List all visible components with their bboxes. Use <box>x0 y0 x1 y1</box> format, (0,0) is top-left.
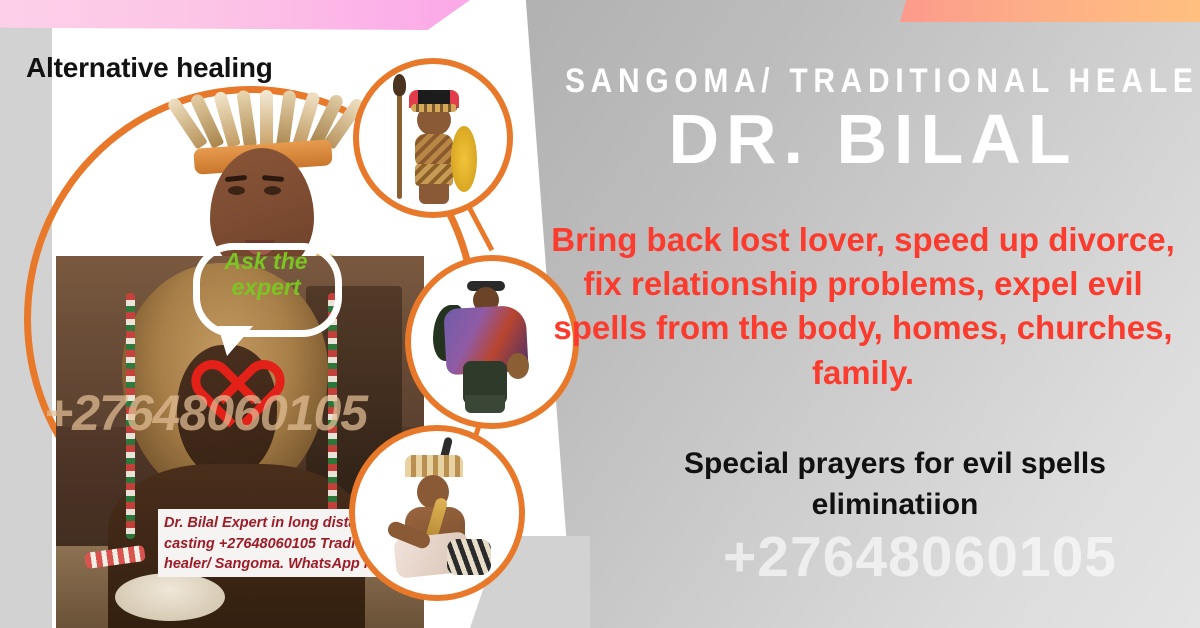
photo-phone-watermark: +27648060105 <box>44 384 444 442</box>
hero-eye-left <box>228 186 245 195</box>
warrior-legs <box>419 184 449 204</box>
warrior-skirt <box>415 164 453 186</box>
speech-bubble-label: Ask the expert <box>206 248 326 301</box>
speech-bubble-tail <box>218 326 253 356</box>
panel-phone-watermark: +27648060105 <box>640 524 1200 590</box>
badge-crouching-warrior[interactable] <box>349 425 525 601</box>
crouching-warrior-skirt <box>447 539 491 575</box>
healer-name-title: DR. BILAL <box>563 104 1183 174</box>
warrior-body <box>415 134 453 168</box>
hero-eye-right <box>264 186 281 195</box>
badge-zulu-warrior[interactable] <box>353 58 513 218</box>
healer-legs <box>465 395 505 413</box>
spear-tip-icon <box>393 74 406 96</box>
shield-icon <box>451 126 477 192</box>
spear-icon <box>397 84 402 199</box>
feather-headdress-icon <box>405 455 463 477</box>
subtitle-kicker: SANGOMA/ TRADITIONAL HEALER <box>565 62 1102 101</box>
photo-ritual-bowl <box>115 573 225 621</box>
poster-canvas: Alternative healing <box>0 0 1200 628</box>
page-title: Alternative healing <box>26 52 273 84</box>
top-right-orange-banner <box>900 0 1200 22</box>
services-description: Bring back lost lover, speed up divorce,… <box>538 218 1188 395</box>
medicine-pouch-icon <box>507 353 529 379</box>
top-pink-banner <box>0 0 470 30</box>
warrior-headband <box>411 104 457 112</box>
special-prayers-text: Special prayers for evil spells eliminat… <box>600 444 1190 525</box>
